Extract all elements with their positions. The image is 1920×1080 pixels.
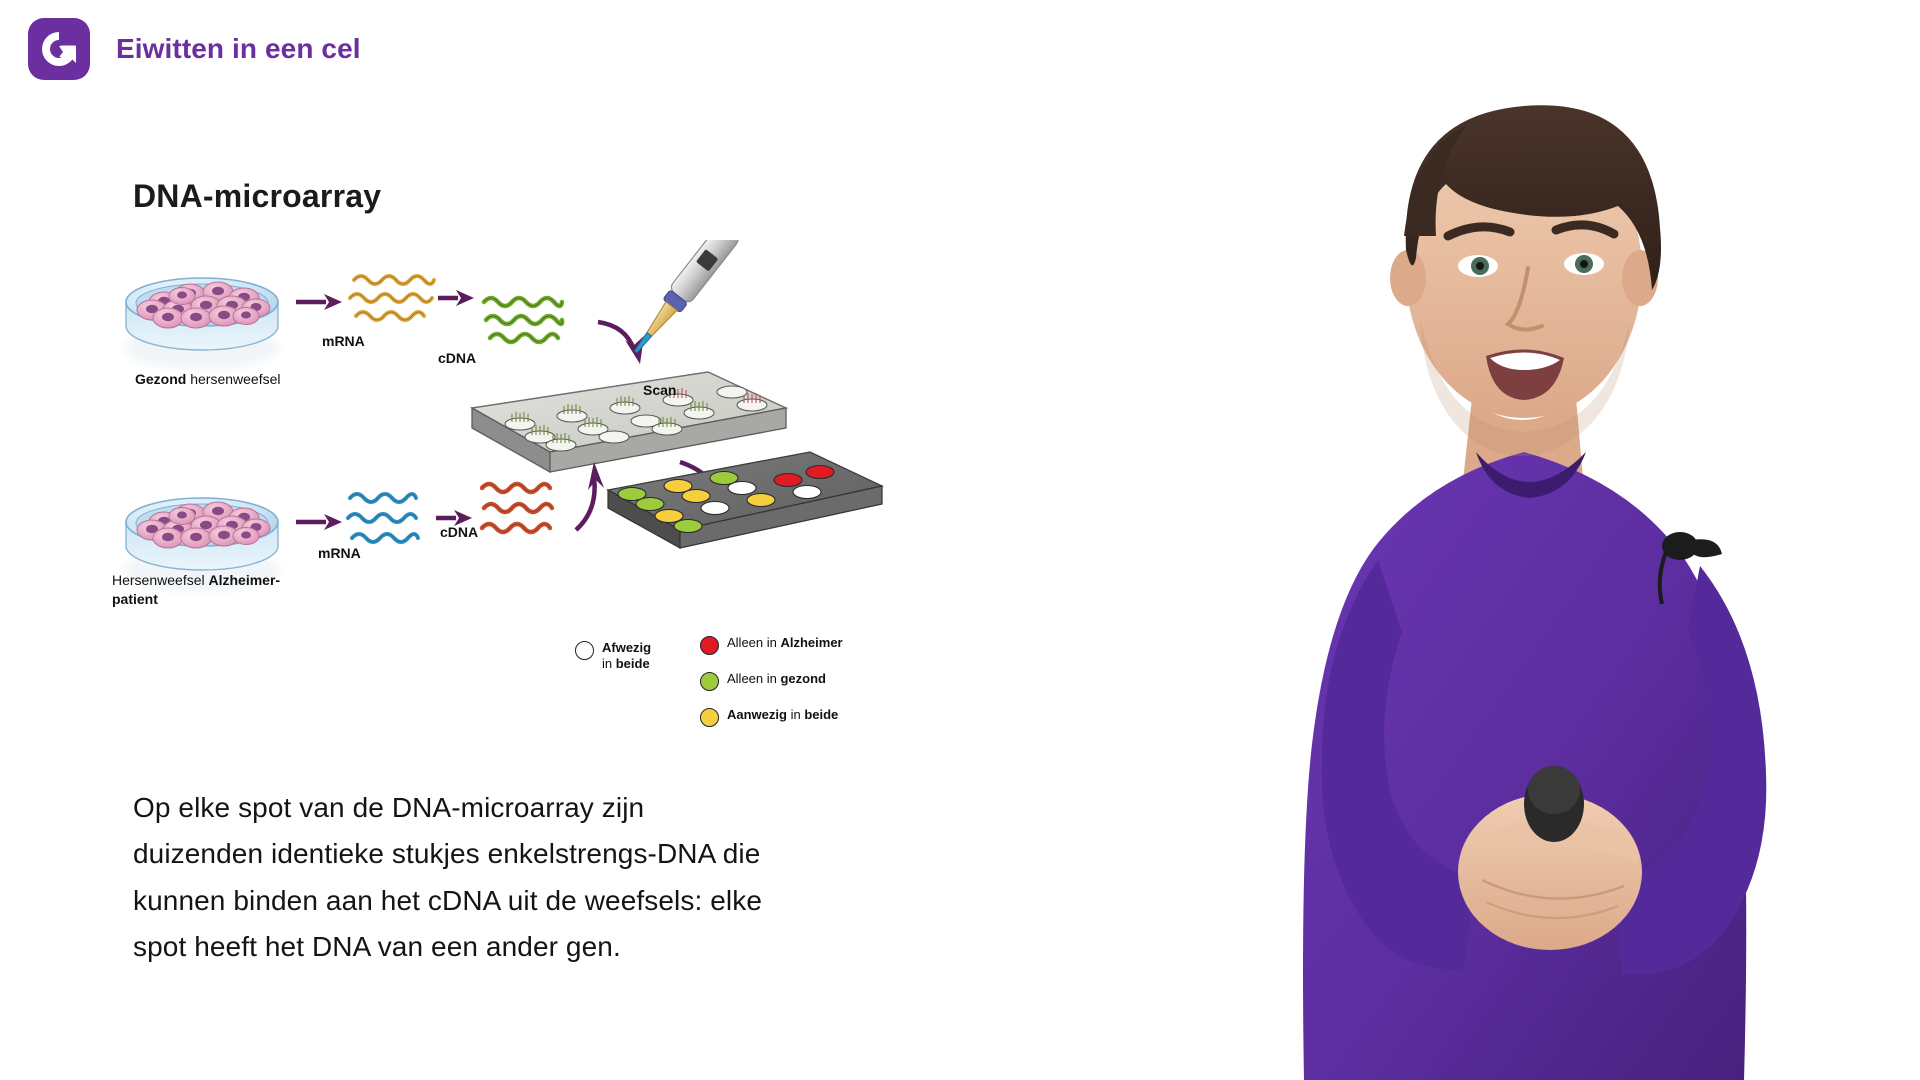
pipette-icon: [626, 240, 747, 360]
legend-gez-pre: Alleen in: [727, 671, 780, 686]
g-refresh-logo-icon: [28, 18, 90, 80]
legend-bei-bold: Aanwezig: [727, 707, 787, 722]
microarray-plate: [472, 372, 786, 472]
label-patient-pre: Hersenweefsel: [112, 572, 209, 588]
legend-label-absent: Afwezig in beide: [602, 640, 651, 672]
scan-result-plate: [608, 452, 882, 548]
label-patient-tissue: Hersenweefsel Alzheimer- patient: [112, 571, 280, 609]
paragraph-line-3: kunnen binden aan het cDNA uit de weefse…: [133, 878, 1013, 924]
legend-bei-post: in: [787, 707, 804, 722]
label-mrna-patient: mRNA: [318, 545, 361, 561]
legend-label-gezond: Alleen in gezond: [727, 671, 826, 687]
legend-item-beide: Aanwezig in beide: [700, 707, 930, 727]
cdna-healthy-strands: [484, 298, 562, 342]
legend-bei-postbold: beide: [804, 707, 838, 722]
presenter-video: [1180, 0, 1920, 1080]
legend-absent-l2pre: in: [602, 656, 616, 671]
arrow-mrna-to-cdna-healthy: [438, 290, 474, 306]
label-healthy-tissue: Gezond hersenweefsel: [135, 371, 281, 387]
label-healthy-bold: Gezond: [135, 371, 186, 387]
slide-heading: DNA-microarray: [133, 178, 381, 215]
label-mrna-healthy: mRNA: [322, 333, 365, 349]
legend-label-alzheimer: Alleen in Alzheimer: [727, 635, 843, 651]
label-patient-bold2: patient: [112, 591, 158, 607]
label-scan: Scan: [643, 382, 676, 398]
legend-dot-white: [575, 641, 594, 660]
paragraph-line-4: spot heeft het DNA van een ander gen.: [133, 924, 1013, 970]
legend-label-beide: Aanwezig in beide: [727, 707, 838, 723]
paragraph-line-1: Op elke spot van de DNA-microarray zijn: [133, 785, 1013, 831]
legend-alz-bold: Alzheimer: [780, 635, 842, 650]
legend-item-gezond: Alleen in gezond: [700, 671, 930, 691]
label-healthy-rest: hersenweefsel: [186, 371, 280, 387]
label-cdna-healthy: cDNA: [438, 350, 476, 366]
arrow-patient-to-mrna: [296, 514, 342, 530]
legend-absent-l1: Afwezig: [602, 640, 651, 655]
legend-dot-red: [700, 636, 719, 655]
legend-dot-green: [700, 672, 719, 691]
arrow-cdna-to-plate: [598, 322, 644, 364]
legend-gez-bold: gezond: [780, 671, 826, 686]
paragraph-line-2: duizenden identieke stukjes enkelstrengs…: [133, 831, 1013, 877]
slide-page: Eiwitten in een cel DNA-microarray: [0, 0, 1920, 1080]
label-cdna-patient: cDNA: [440, 524, 478, 540]
legend-item-alzheimer: Alleen in Alzheimer: [700, 635, 930, 655]
mrna-patient-strands: [348, 494, 418, 542]
header: Eiwitten in een cel: [28, 18, 361, 80]
page-title: Eiwitten in een cel: [116, 33, 361, 65]
arrow-cdna-patient-to-plate: [576, 462, 604, 530]
petri-dish-healthy: [124, 278, 280, 370]
presenter-illustration: [1180, 0, 1920, 1080]
legend-alz-pre: Alleen in: [727, 635, 780, 650]
slide-paragraph: Op elke spot van de DNA-microarray zijn …: [133, 785, 1013, 971]
legend-absent-l2bold: beide: [616, 656, 650, 671]
legend-dot-yellow: [700, 708, 719, 727]
label-patient-bold: Alzheimer-: [209, 572, 281, 588]
arrow-healthy-to-mrna: [296, 294, 342, 310]
legend-item-absent: Afwezig in beide: [575, 640, 695, 672]
